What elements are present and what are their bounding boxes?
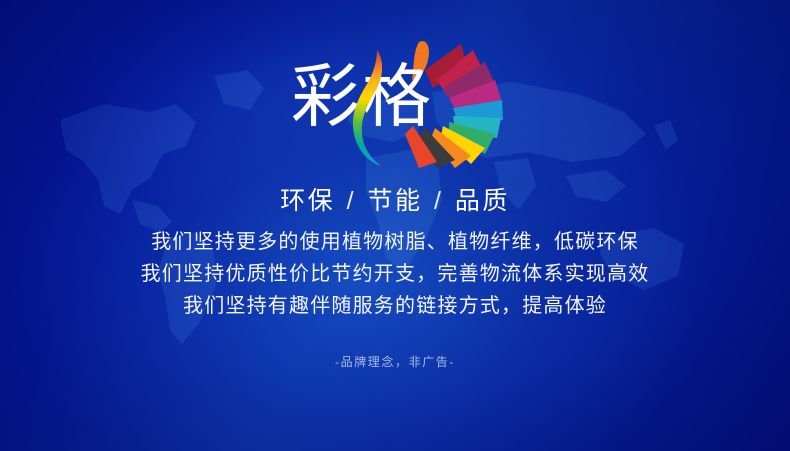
brand-philosophy-banner: 彩格 环保 / 节能 / 品质 我们坚持更多的使用植物树脂、植物纤维，低碳环保 … [0,0,790,451]
headline-separator-1: / [432,187,445,215]
logo: 彩格 [0,36,790,168]
headline-separator-0: / [345,187,358,215]
headline-item-0: 环保 [280,187,335,215]
body-line: 我们坚持优质性价比节约开支，完善物流体系实现高效 [0,258,790,290]
headline: 环保 / 节能 / 品质 [0,181,790,217]
body-line: 我们坚持有趣伴随服务的链接方式，提高体验 [0,290,790,322]
body-line: 我们坚持更多的使用植物树脂、植物纤维，低碳环保 [0,226,790,258]
body-copy: 我们坚持更多的使用植物树脂、植物纤维，低碳环保 我们坚持优质性价比节约开支，完善… [0,226,790,322]
headline-item-1: 节能 [367,187,422,215]
rainbow-swoosh-icon [343,48,407,168]
headline-item-2: 品质 [455,187,510,215]
footnote: -品牌理念，非广告- [0,353,790,370]
